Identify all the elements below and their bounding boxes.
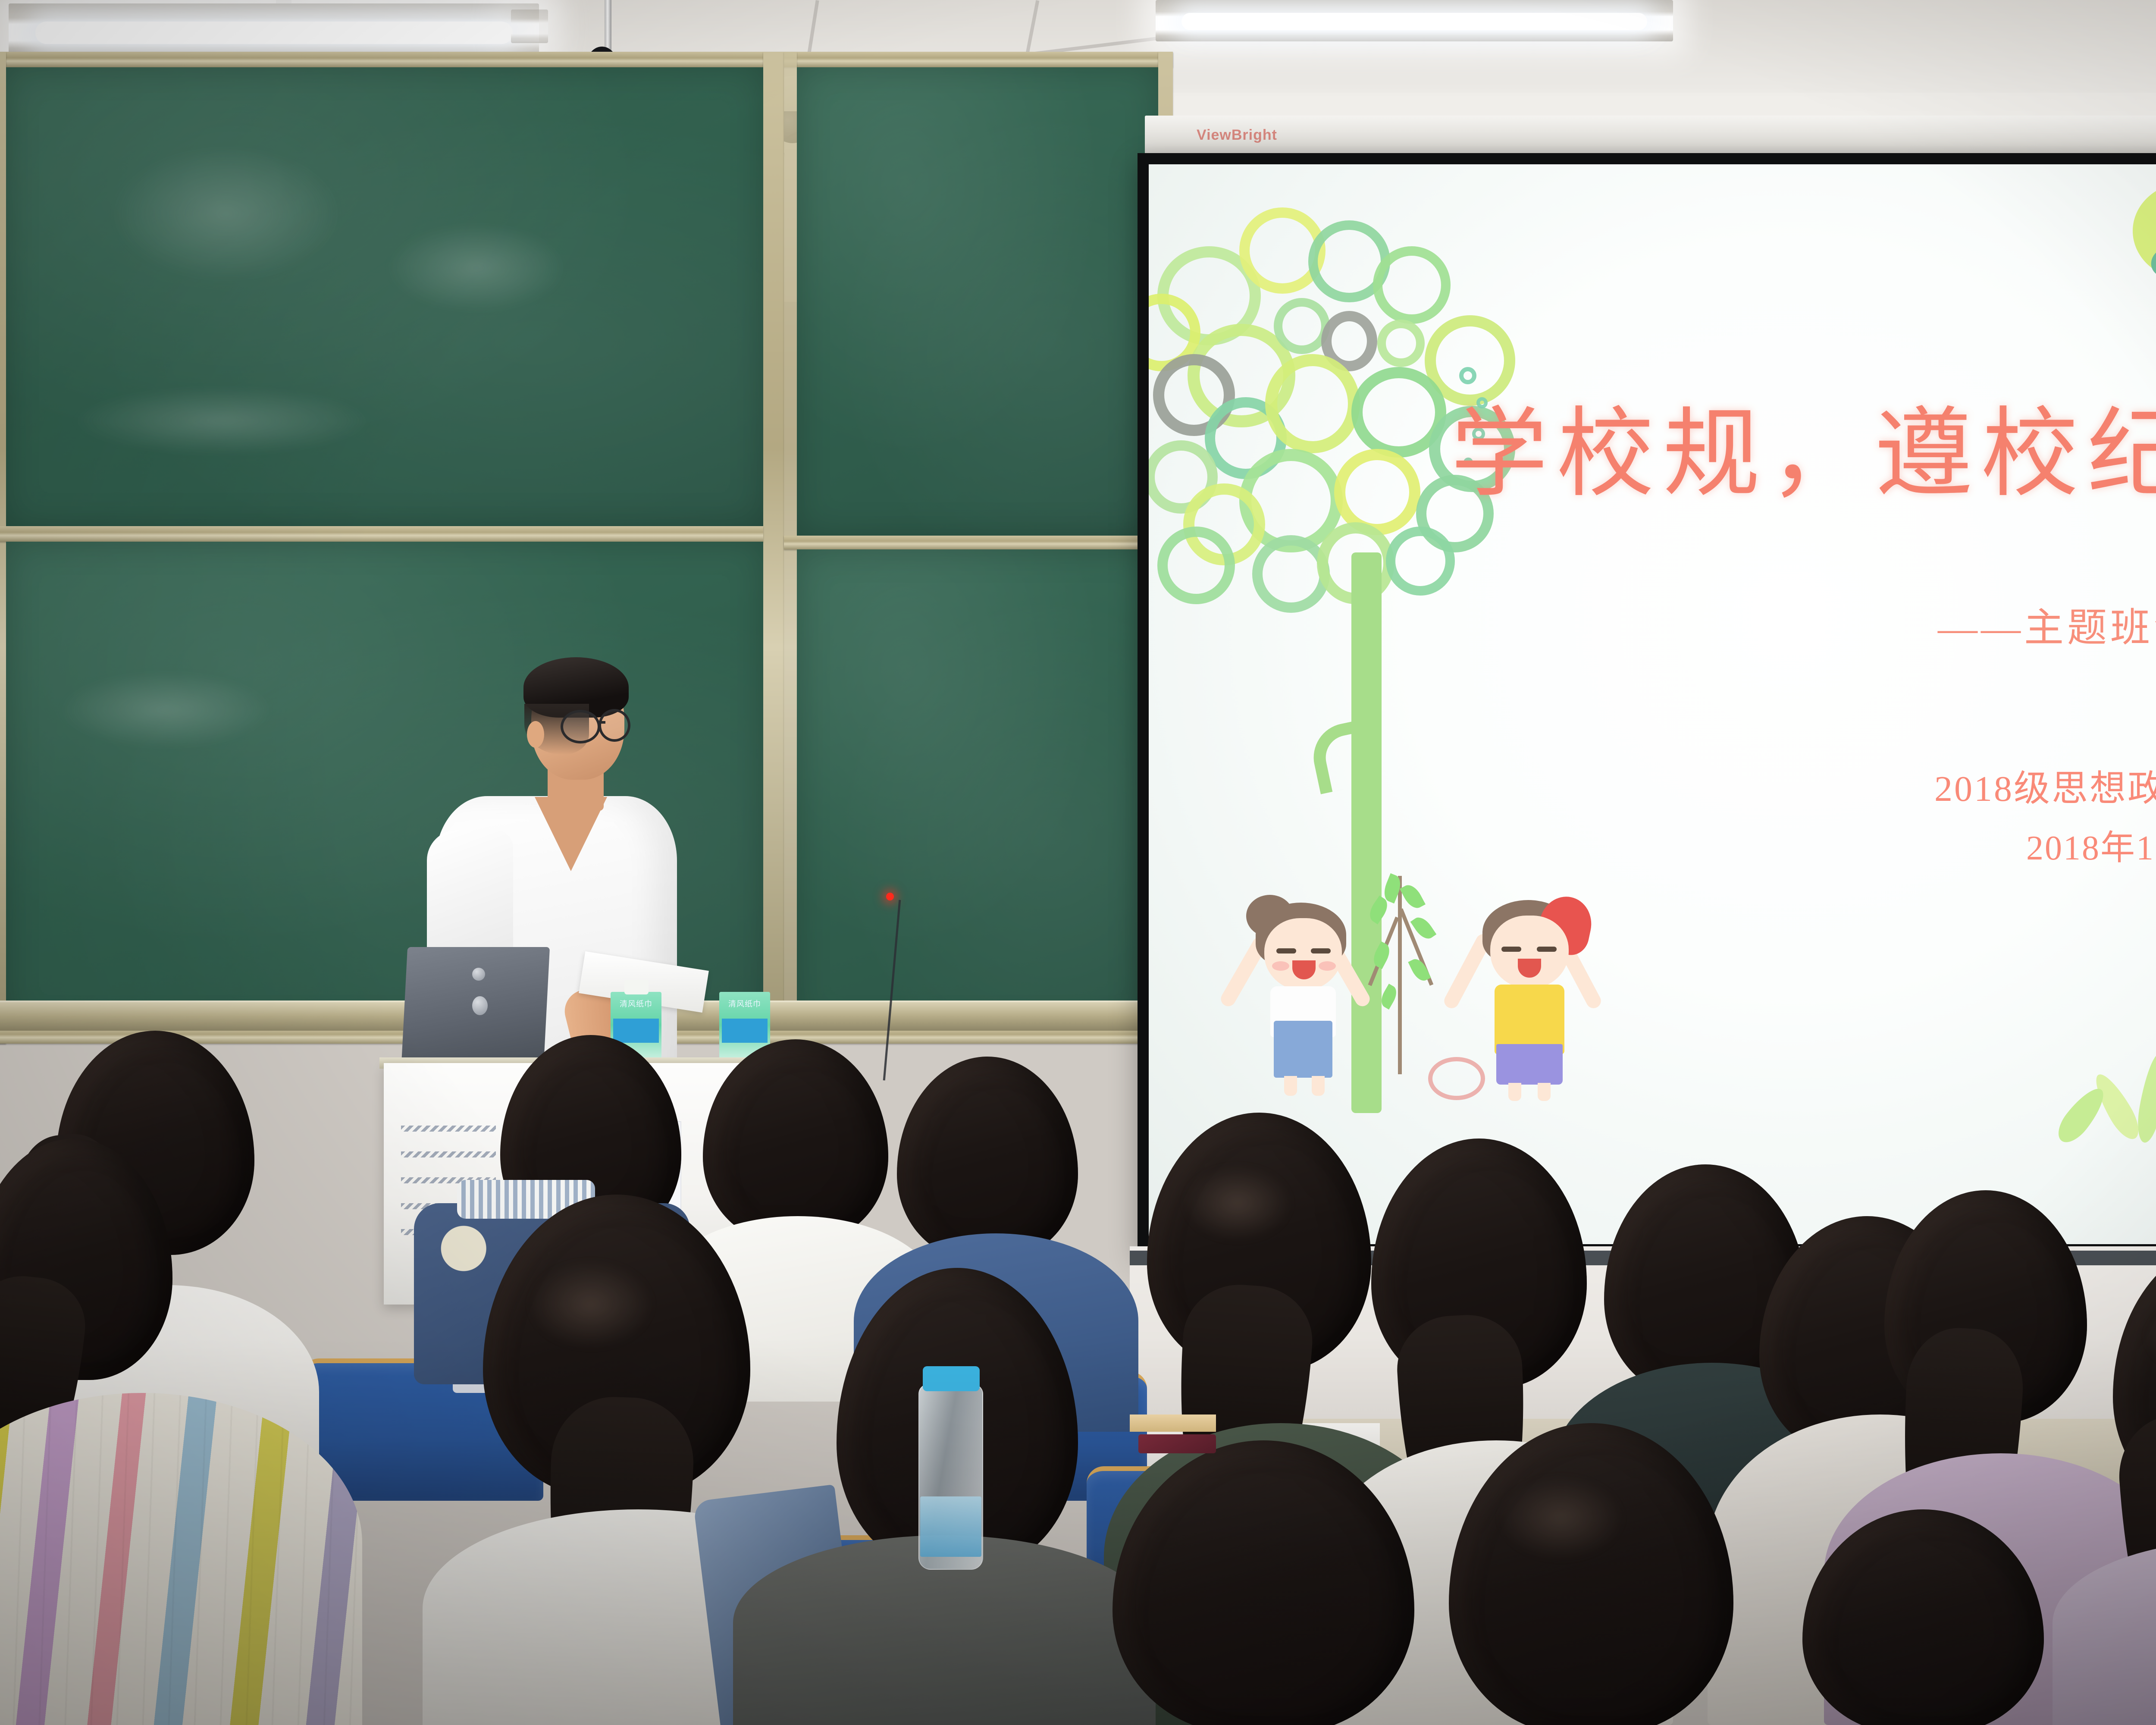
- tissue-box-label: 清风纸巾: [611, 998, 661, 1009]
- boy-eye: [1537, 947, 1557, 952]
- fluorescent-tube: [35, 22, 513, 44]
- boy-eye: [1501, 947, 1521, 952]
- projector-screen: 12 1 2 3 4 5 6 7 8 9 10 11 学校规，遵校纪 ——主题班…: [1138, 153, 2156, 1253]
- girl-eye: [1311, 948, 1331, 953]
- phone[interactable]: [1138, 1434, 1216, 1453]
- chalkboard-frame: [784, 536, 1173, 549]
- girl-head: [1264, 918, 1342, 991]
- girl-eye: [1276, 948, 1296, 953]
- glasses-icon: [599, 709, 630, 742]
- notebook[interactable]: [1130, 1414, 1216, 1432]
- slide-title: 学校规，遵校纪: [1451, 406, 2156, 503]
- bottle-label: [920, 1496, 981, 1557]
- chalkboard-frame: [0, 52, 1173, 67]
- student-hair: [897, 1057, 1078, 1259]
- sapling-stem: [1398, 876, 1402, 1074]
- projector-screen-case: ViewBright: [1145, 116, 2156, 155]
- laser-indicator-light: [886, 893, 894, 900]
- chalkboard-panel: [6, 67, 763, 526]
- tissue-box-band: [613, 1019, 659, 1043]
- girl-cheek: [1272, 961, 1289, 971]
- glasses-bridge: [598, 721, 605, 724]
- classroom-photo-scene: 清风纸巾 清风纸巾 ViewBright: [0, 0, 2156, 1725]
- ceiling-light-fixture: [1156, 0, 1673, 41]
- bottle-cap: [923, 1366, 980, 1391]
- laptop-latch: [472, 996, 488, 1015]
- tissue-sheet: [624, 980, 649, 994]
- laptop-hinge-dot: [472, 968, 485, 981]
- chalkboard-panel: [797, 549, 1158, 1028]
- slide-subtitle: ——主题班会: [1938, 596, 2156, 653]
- sapling-leaf: [1400, 881, 1426, 912]
- girl-cheek: [1319, 961, 1336, 971]
- chalkboard-frame: [0, 52, 6, 1044]
- chalkboard-frame: [763, 52, 784, 1044]
- fluorescent-tube: [1181, 13, 1647, 30]
- ceiling-light-fixture: [511, 9, 548, 43]
- girl-leg: [1312, 1076, 1325, 1096]
- boy-shorts: [1496, 1044, 1563, 1085]
- slide-date-line: 2018年10月9日: [1916, 820, 2156, 870]
- hula-hoop: [1428, 1057, 1485, 1100]
- girl-overalls: [1274, 1021, 1332, 1078]
- tissue-box-band: [722, 1019, 768, 1043]
- cartoon-girl: [1231, 893, 1377, 1096]
- chalkboard-panel: [797, 67, 1158, 536]
- ceiling-light-fixture: [9, 3, 539, 55]
- boy-leg: [1508, 1083, 1521, 1101]
- slide-class-line: 2018级思想政治教育二班: [1890, 759, 2156, 812]
- tissue-box-label: 清风纸巾: [719, 998, 770, 1009]
- chalkboard-frame: [0, 526, 763, 542]
- glasses-icon: [561, 710, 600, 743]
- instructor-ear: [527, 721, 544, 748]
- boy-head: [1490, 916, 1569, 989]
- slide-surface: 12 1 2 3 4 5 6 7 8 9 10 11 学校规，遵校纪 ——主题班…: [1149, 164, 2156, 1244]
- screen-brand-label: ViewBright: [1197, 127, 1277, 144]
- boy-leg: [1538, 1083, 1551, 1101]
- girl-leg: [1284, 1076, 1297, 1096]
